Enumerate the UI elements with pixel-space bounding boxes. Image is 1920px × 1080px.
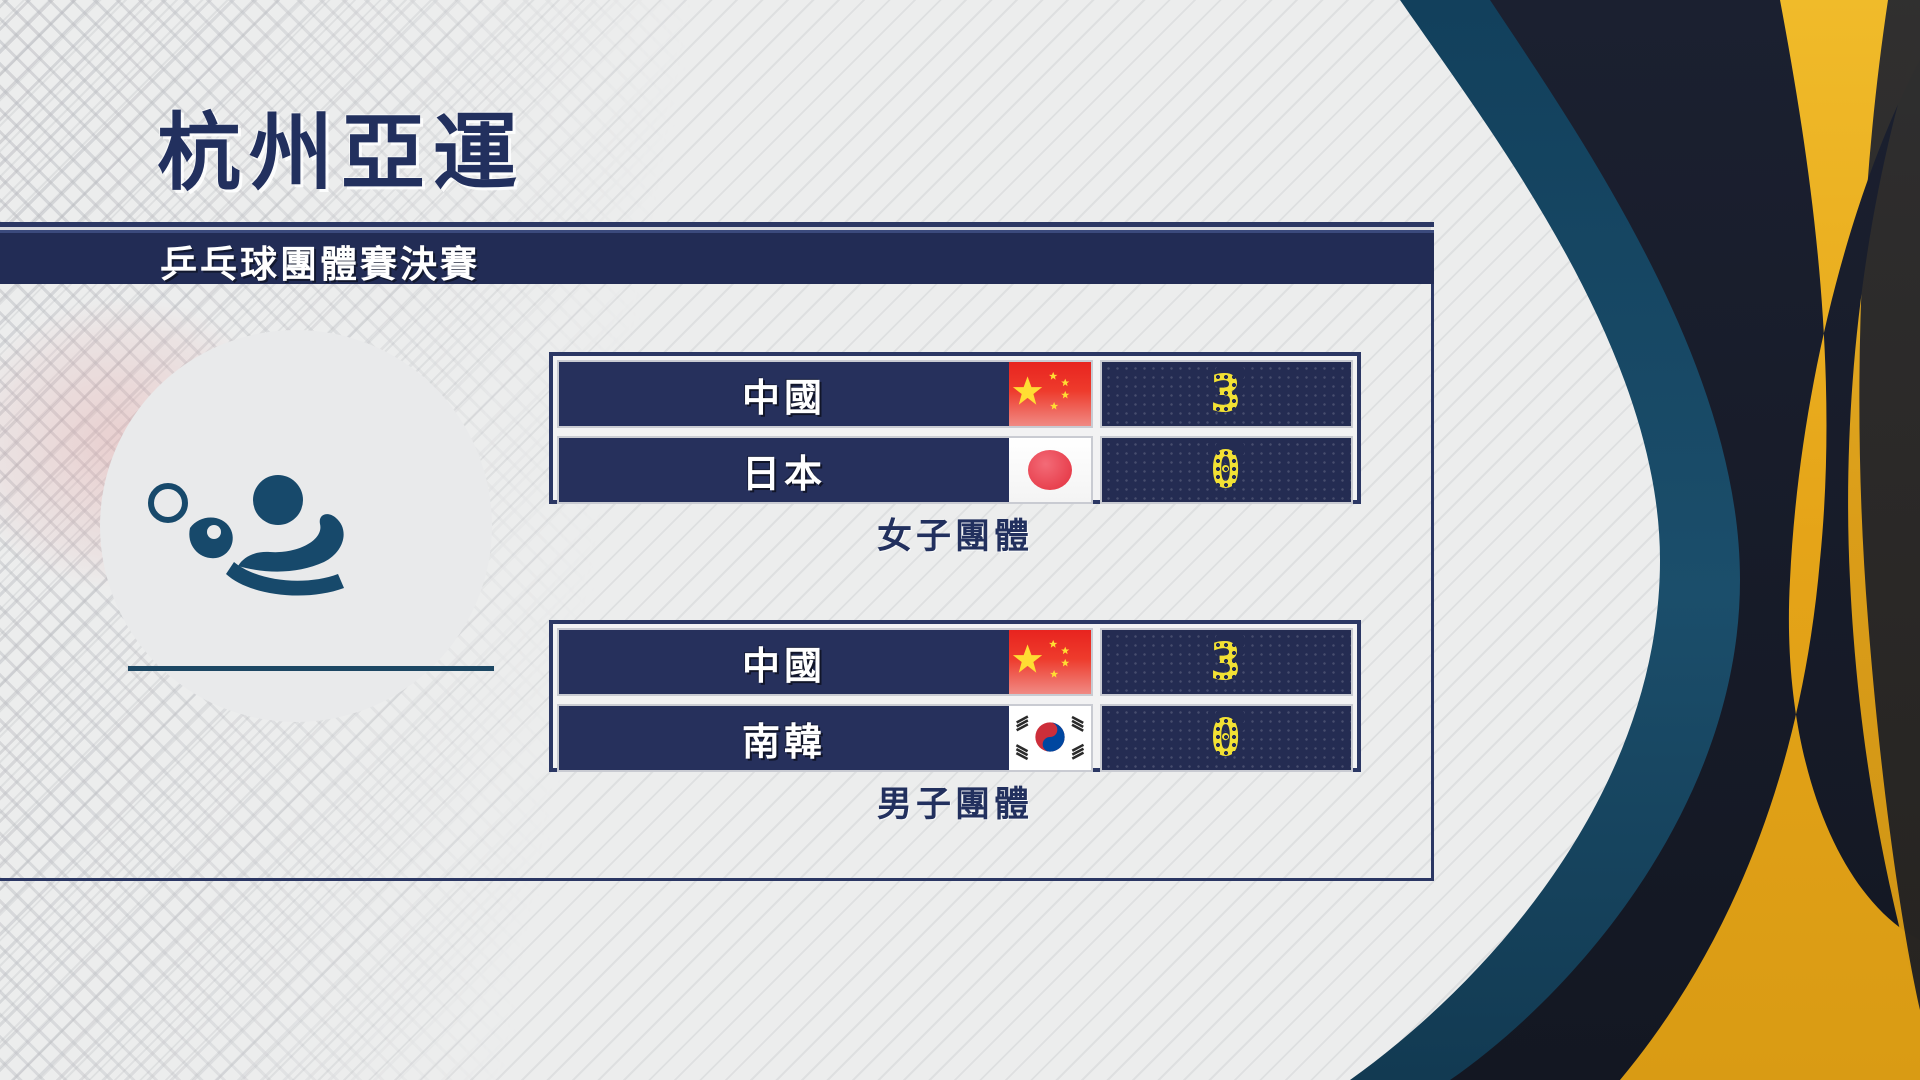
score-row: 日本 0 [557, 436, 1353, 504]
score-value: 3 [1210, 637, 1242, 687]
flag-cell-china [1009, 628, 1093, 696]
swoosh-gold-accent [1848, 30, 1920, 1010]
board-caption-women: 女子團體 [549, 508, 1361, 559]
score-value: 0 [1210, 713, 1242, 763]
broadcast-graphic-stage: 杭州亞運 乒乓球團體賽決賽 中國 [0, 0, 1920, 1080]
pictogram-underline [128, 666, 494, 671]
subtitle-bar-top-rule [0, 222, 1434, 227]
scoreboard-men: 中國 3 南韓 [549, 620, 1361, 772]
japan-flag-disc [1028, 450, 1072, 490]
swoosh-teal [1350, 0, 1920, 1080]
flag-cell-china [1009, 360, 1093, 428]
swoosh-dark [1450, 0, 1920, 1080]
flag-cell-japan [1009, 436, 1093, 504]
score-row: 中國 3 [557, 360, 1353, 428]
score-led-panel: 3 [1100, 360, 1353, 428]
team-name: 中國 [742, 367, 826, 422]
china-flag-icon [1009, 630, 1091, 694]
japan-flag-icon [1009, 438, 1091, 502]
score-led-panel: 0 [1100, 704, 1353, 772]
score-row: 南韓 [557, 704, 1353, 772]
team-name: 南韓 [742, 711, 826, 766]
subtitle-text: 乒乓球團體賽決賽 [160, 234, 480, 288]
board-caption-men: 男子團體 [549, 776, 1361, 827]
team-cell: 日本 [557, 436, 1009, 504]
team-cell: 中國 [557, 360, 1009, 428]
score-value: 0 [1210, 445, 1242, 495]
swoosh-gold [1620, 0, 1920, 1080]
team-name: 中國 [742, 635, 826, 690]
score-led-panel: 0 [1100, 436, 1353, 504]
team-cell: 南韓 [557, 704, 1009, 772]
team-cell: 中國 [557, 628, 1009, 696]
swoosh-dark-sliver [1859, 0, 1920, 1010]
flag-cell-southkorea [1009, 704, 1093, 772]
table-tennis-pictogram-icon [138, 470, 398, 610]
china-flag-icon [1009, 362, 1091, 426]
score-value: 3 [1210, 369, 1242, 419]
score-row: 中國 3 [557, 628, 1353, 696]
south-korea-flag-icon [1009, 706, 1091, 770]
scoreboard-women: 中國 3 日本 [549, 352, 1361, 504]
team-name: 日本 [742, 443, 826, 498]
page-title: 杭州亞運 [157, 86, 525, 207]
score-led-panel: 3 [1100, 628, 1353, 696]
